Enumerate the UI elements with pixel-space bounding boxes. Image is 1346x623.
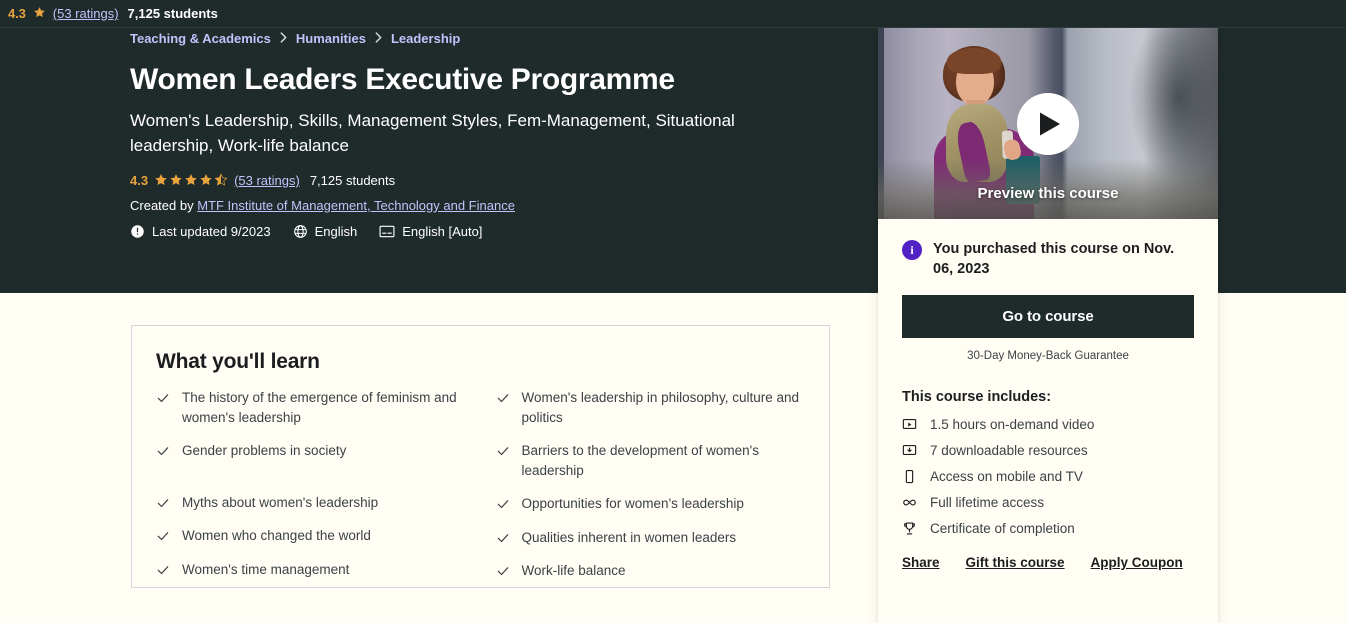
learn-grid: The history of the emergence of feminism… [156,388,805,595]
list-item-label: Women's time management [182,560,349,580]
meta-language: English [293,224,358,239]
list-item-label: Barriers to the development of women's l… [522,441,806,480]
rating-score: 4.3 [130,173,148,188]
hero-content: Teaching & Academics Humanities Leadersh… [130,28,850,239]
chevron-right-icon [375,32,382,46]
list-item: Full lifetime access [902,495,1194,510]
list-item-label: Work-life balance [522,561,626,581]
purchased-notice: i You purchased this course on Nov. 06, … [902,239,1194,279]
check-icon [156,496,170,510]
play-icon[interactable] [1017,93,1079,155]
check-icon [156,529,170,543]
list-item-label: Qualities inherent in women leaders [522,528,737,548]
topbar-ratings-link[interactable]: (53 ratings) [53,6,119,21]
list-item: The history of the emergence of feminism… [156,388,466,427]
meta-captions: English [Auto] [379,224,482,239]
list-item-label: Certificate of completion [930,521,1075,536]
list-item: Barriers to the development of women's l… [496,441,806,480]
list-item: Gender problems in society [156,441,466,461]
list-item: Work-life balance [496,561,806,581]
breadcrumb-item-leadership[interactable]: Leadership [391,31,460,46]
list-item-label: Gender problems in society [182,441,346,461]
gift-link[interactable]: Gift this course [966,555,1065,570]
purchased-notice-text: You purchased this course on Nov. 06, 20… [933,239,1194,279]
course-purchase-card: Preview this course i You purchased this… [878,28,1218,623]
this-course-includes-list: 1.5 hours on-demand video 7 downloadable… [902,417,1194,536]
topbar-rating-score: 4.3 [8,6,26,21]
star-icon [33,6,46,21]
card-body: i You purchased this course on Nov. 06, … [878,219,1218,570]
list-item-label: Full lifetime access [930,495,1044,510]
meta-language-label: English [315,224,358,239]
list-item: Access on mobile and TV [902,469,1194,484]
list-item-label: Myths about women's leadership [182,493,378,513]
meta-last-updated-label: Last updated 9/2023 [152,224,271,239]
preview-video-thumbnail[interactable]: Preview this course [878,28,1218,219]
topbar-students-count: 7,125 students [128,6,218,21]
list-item: Certificate of completion [902,521,1194,536]
students-count: 7,125 students [310,173,395,188]
course-meta-row: Last updated 9/2023 English English [Aut… [130,224,850,239]
share-link[interactable]: Share [902,555,940,570]
check-icon [496,497,510,511]
check-icon [156,444,170,458]
list-item: 7 downloadable resources [902,443,1194,458]
ratings-link[interactable]: (53 ratings) [234,173,300,188]
list-item-label: 1.5 hours on-demand video [930,417,1094,432]
meta-captions-label: English [Auto] [402,224,482,239]
trophy-icon [902,521,917,536]
list-item-label: Opportunities for women's leadership [522,494,744,514]
created-by: Created by MTF Institute of Management, … [130,198,850,213]
info-circle-icon [130,224,145,239]
meta-last-updated: Last updated 9/2023 [130,224,271,239]
infinity-icon [902,495,917,510]
list-item: Women who changed the world [156,526,466,546]
created-by-label: Created by [130,198,194,213]
breadcrumb: Teaching & Academics Humanities Leadersh… [130,28,850,46]
rating-row: 4.3 (53 ratings) 7,125 students [130,173,850,188]
list-item-label: Women's leadership in philosophy, cultur… [522,388,806,427]
check-icon [156,391,170,405]
check-icon [496,444,510,458]
sticky-top-bar: 4.3 (53 ratings) 7,125 students [0,0,1346,28]
this-course-includes-title: This course includes: [902,389,1194,405]
info-icon: i [902,240,922,260]
list-item-label: 7 downloadable resources [930,443,1088,458]
check-icon [496,564,510,578]
check-icon [496,391,510,405]
list-item-label: Access on mobile and TV [930,469,1083,484]
breadcrumb-item-humanities[interactable]: Humanities [296,31,366,46]
list-item: Opportunities for women's leadership [496,494,806,514]
what-you-will-learn-box: What you'll learn The history of the eme… [131,325,830,588]
mobile-icon [902,469,917,484]
globe-icon [293,224,308,239]
monitor-play-icon [902,417,917,432]
breadcrumb-item-teaching-academics[interactable]: Teaching & Academics [130,31,271,46]
download-icon [902,443,917,458]
list-item: Women's leadership in philosophy, cultur… [496,388,806,427]
what-you-will-learn-title: What you'll learn [156,350,805,374]
card-action-links: Share Gift this course Apply Coupon [902,555,1194,570]
main-content-column: What you'll learn The history of the eme… [0,293,878,623]
check-icon [496,531,510,545]
go-to-course-button[interactable]: Go to course [902,295,1194,338]
money-back-guarantee: 30-Day Money-Back Guarantee [902,350,1194,362]
learn-column-left: The history of the emergence of feminism… [156,388,466,595]
list-item: Myths about women's leadership [156,493,466,513]
closed-caption-icon [379,224,395,239]
check-icon [156,563,170,577]
author-link[interactable]: MTF Institute of Management, Technology … [197,198,515,213]
page-title: Women Leaders Executive Programme [130,62,850,97]
coupon-link[interactable]: Apply Coupon [1091,555,1183,570]
list-item: Qualities inherent in women leaders [496,528,806,548]
course-headline: Women's Leadership, Skills, Management S… [130,109,820,157]
list-item: Women's time management [156,560,466,580]
star-rating-icons [154,173,228,187]
list-item-label: Women who changed the world [182,526,371,546]
learn-column-right: Women's leadership in philosophy, cultur… [496,388,806,595]
list-item-label: The history of the emergence of feminism… [182,388,466,427]
list-item: 1.5 hours on-demand video [902,417,1194,432]
chevron-right-icon [280,32,287,46]
